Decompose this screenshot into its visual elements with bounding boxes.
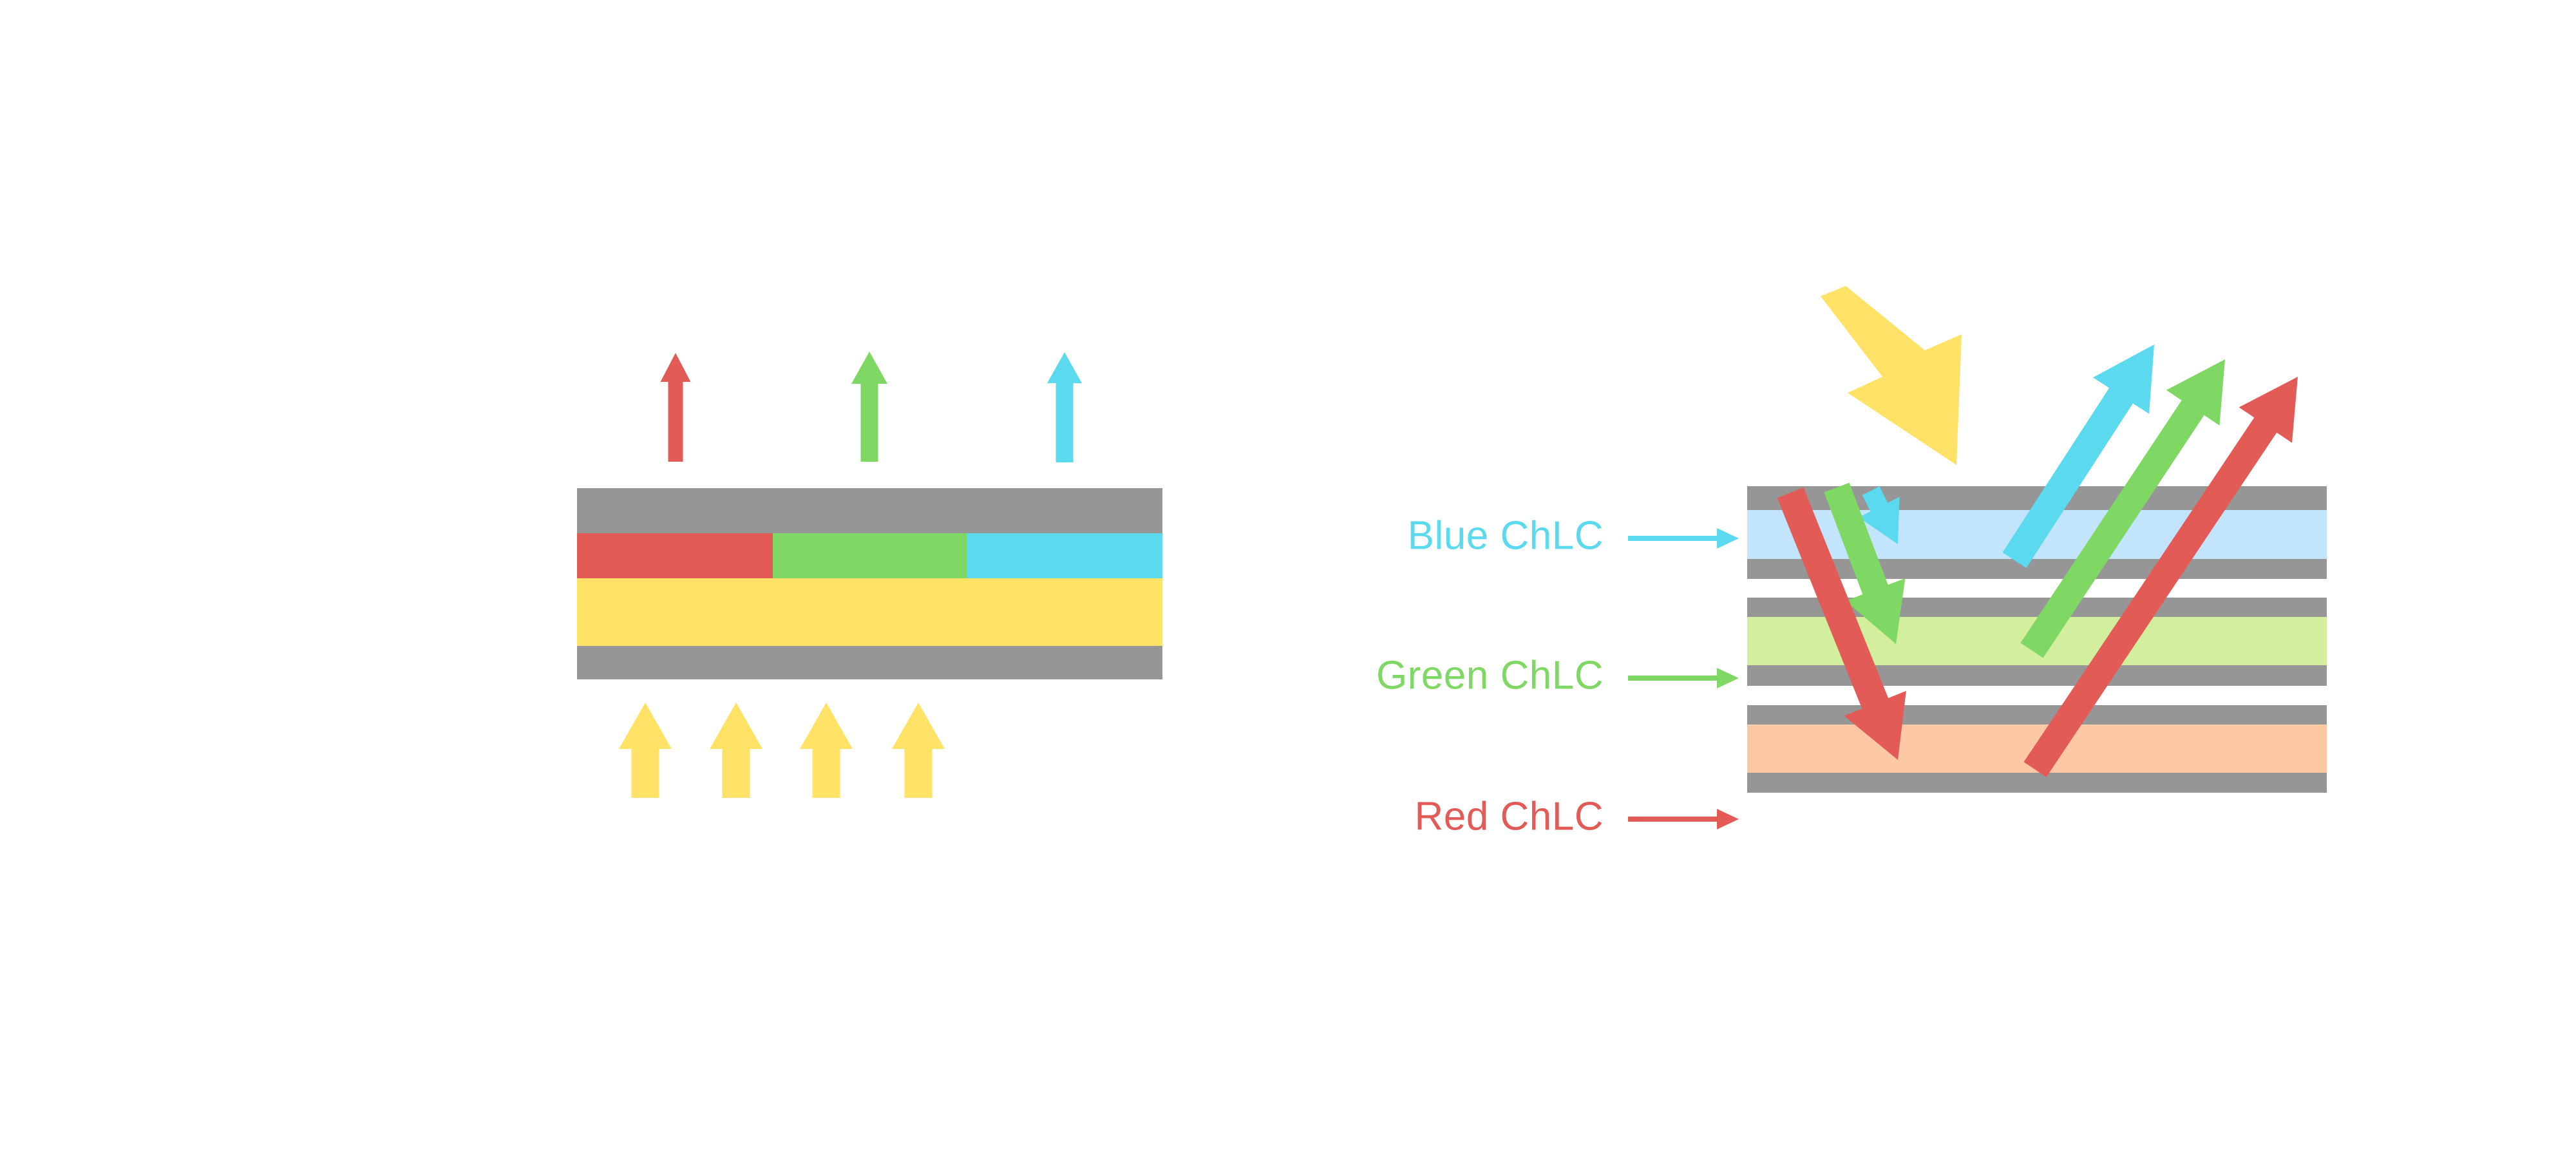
red-chlc-label: Red ChLC — [1415, 794, 1604, 838]
red-cell-bottom-electrode — [1747, 773, 2327, 793]
backlight-arrows-group — [619, 703, 945, 798]
right-panel-group: Blue ChLCGreen ChLCRed ChLC — [1376, 286, 2327, 838]
green-chlc-label: Green ChLC — [1376, 653, 1604, 697]
backlight-layer — [577, 578, 1162, 646]
emitted-blue-arrow — [1047, 352, 1082, 462]
blue-filter-segment — [967, 533, 1162, 578]
emitted-red-arrow — [661, 353, 691, 462]
diagram-canvas: Blue ChLCGreen ChLCRed ChLC — [0, 0, 2576, 1154]
red-cell-top-electrode — [1747, 705, 2327, 724]
emitted-arrows-group — [661, 352, 1083, 462]
chlc-labels-group: Blue ChLCGreen ChLCRed ChLC — [1376, 513, 1739, 838]
backlight-arrow-2 — [710, 703, 762, 798]
chlc-display-diagram: Blue ChLCGreen ChLCRed ChLC — [0, 0, 2576, 1154]
blue-chlc-label-arrow-head — [1717, 528, 1739, 549]
backlight-arrow-4 — [892, 703, 945, 798]
blue-chlc-label: Blue ChLC — [1408, 513, 1604, 558]
incident-white-light-arrow — [1821, 286, 1962, 465]
green-chlc-label-arrow-head — [1717, 668, 1739, 688]
green-cell-bottom-electrode — [1747, 665, 2327, 686]
incident-arrow-polygon — [1821, 286, 1962, 465]
backlight-arrow-1 — [619, 703, 672, 798]
emitted-green-arrow — [851, 352, 887, 462]
top-electrode — [577, 488, 1162, 533]
red-filter-segment — [577, 533, 773, 578]
green-filter-segment — [773, 533, 967, 578]
red-chlc-label-arrow-head — [1717, 809, 1739, 829]
backlight-arrow-3 — [800, 703, 853, 798]
gap-2 — [1747, 686, 2327, 705]
left-stack-group — [577, 488, 1162, 679]
left-panel-group — [577, 352, 1162, 798]
bottom-electrode — [577, 646, 1162, 679]
